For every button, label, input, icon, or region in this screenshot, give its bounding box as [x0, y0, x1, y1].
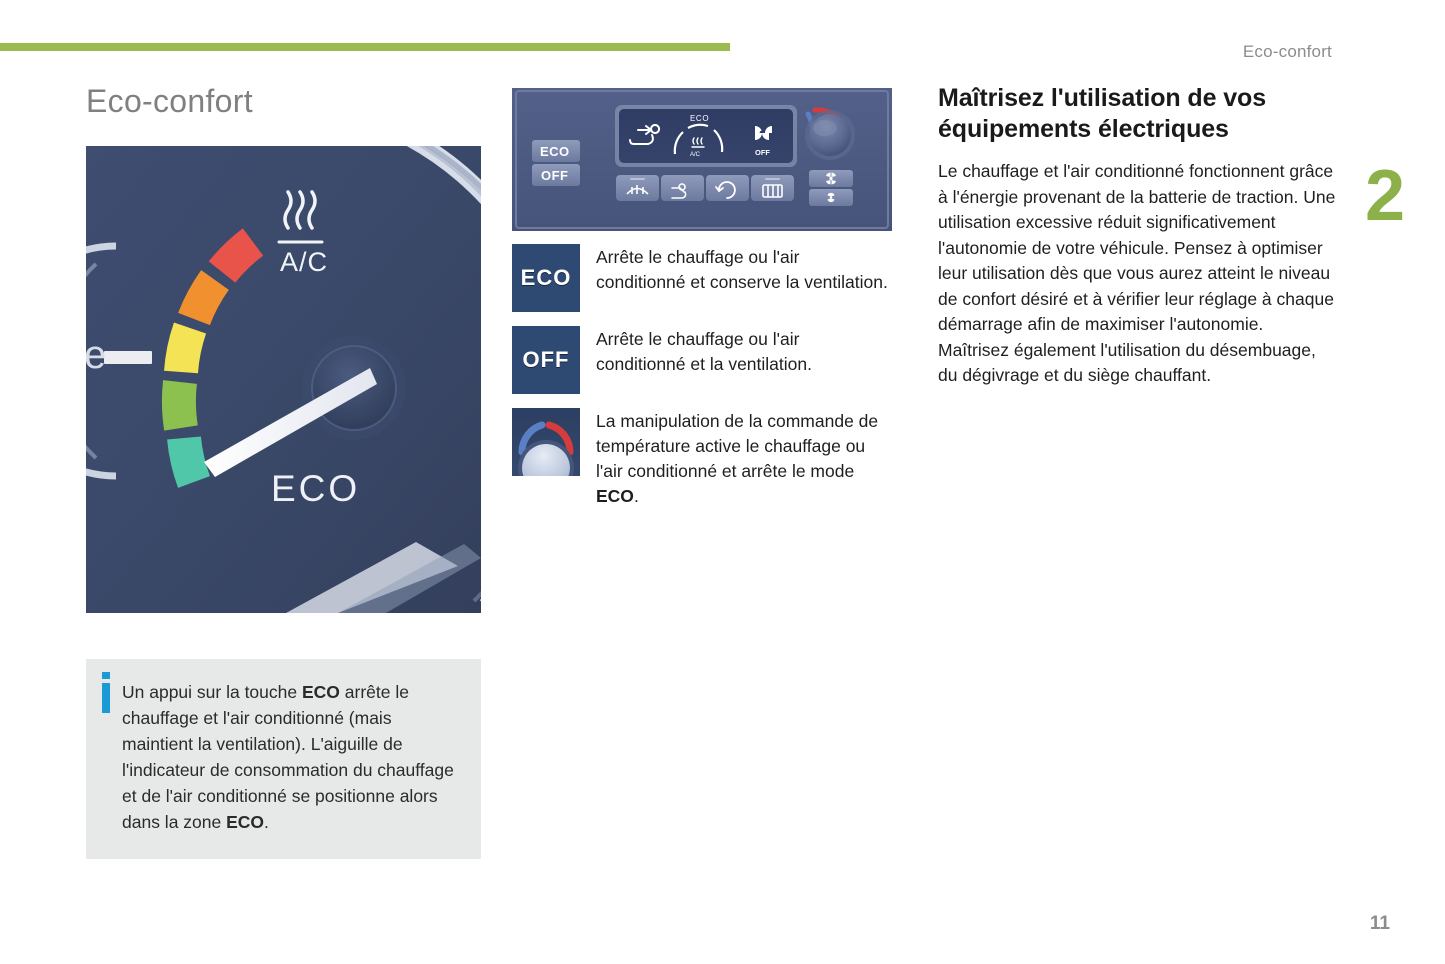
info-box-text: Un appui sur la touche ECO arrête le cha… — [122, 679, 455, 835]
svg-text:A/C: A/C — [690, 152, 701, 158]
gauge-illustration: e A/C ECO — [86, 146, 481, 613]
panel-off-button: OFF — [532, 164, 580, 186]
legend-text-temperature-knob: La manipulation de la commande de tempér… — [596, 408, 892, 509]
info-icon — [102, 683, 110, 713]
segment-green — [179, 382, 181, 428]
display-eco-label: ECO — [690, 114, 709, 123]
legend-swatch-label: OFF — [523, 347, 570, 373]
svg-text:e: e — [86, 333, 106, 377]
right-column-body: Le chauffage et l'air conditionné foncti… — [938, 159, 1338, 389]
running-head: Eco-confort — [1243, 42, 1332, 62]
legend-swatch-temperature-knob — [512, 408, 580, 476]
legend-swatch-eco: ECO — [512, 244, 580, 312]
legend-list: ECO Arrête le chauffage ou l'air conditi… — [512, 244, 892, 523]
panel-display: ECO A/C OFF — [615, 105, 797, 167]
chapter-number: 2 — [1365, 160, 1405, 232]
legend-text-off: Arrête le chauffage ou l'air conditionné… — [596, 326, 892, 377]
ac-label: A/C — [280, 247, 328, 277]
climate-control-panel-figure: ECO OFF ECO — [512, 88, 892, 231]
legend-item: OFF Arrête le chauffage ou l'air conditi… — [512, 326, 892, 394]
page-title: Eco-confort — [86, 83, 253, 120]
legend-item: ECO Arrête le chauffage ou l'air conditi… — [512, 244, 892, 312]
segment-teal — [184, 438, 194, 482]
legend-text-eco: Arrête le chauffage ou l'air conditionné… — [596, 244, 892, 295]
legend-item: La manipulation de la commande de tempér… — [512, 408, 892, 509]
segment-red — [222, 242, 253, 272]
legend-swatch-label: ECO — [521, 265, 572, 291]
temperature-knob — [805, 110, 855, 160]
svg-text:OFF: OFF — [541, 168, 569, 183]
panel-eco-button: ECO — [532, 140, 580, 162]
heating-ac-consumption-gauge-figure: e A/C ECO — [86, 146, 481, 613]
eco-label: ECO — [271, 468, 360, 509]
svg-text:ECO: ECO — [540, 144, 570, 159]
page-number: 11 — [1370, 913, 1390, 935]
legend-swatch-off: OFF — [512, 326, 580, 394]
header-green-rule — [0, 43, 730, 51]
display-fan-off-label: OFF — [755, 148, 770, 157]
right-column: Maîtrisez l'utilisation de vos équipemen… — [938, 83, 1338, 389]
segment-yellow — [181, 328, 190, 372]
climate-panel-illustration: ECO OFF ECO — [512, 88, 892, 231]
temperature-knob-icon — [512, 408, 580, 476]
info-box: Un appui sur la touche ECO arrête le cha… — [86, 659, 481, 859]
right-column-heading: Maîtrisez l'utilisation de vos équipemen… — [938, 83, 1338, 145]
segment-orange — [194, 280, 215, 319]
